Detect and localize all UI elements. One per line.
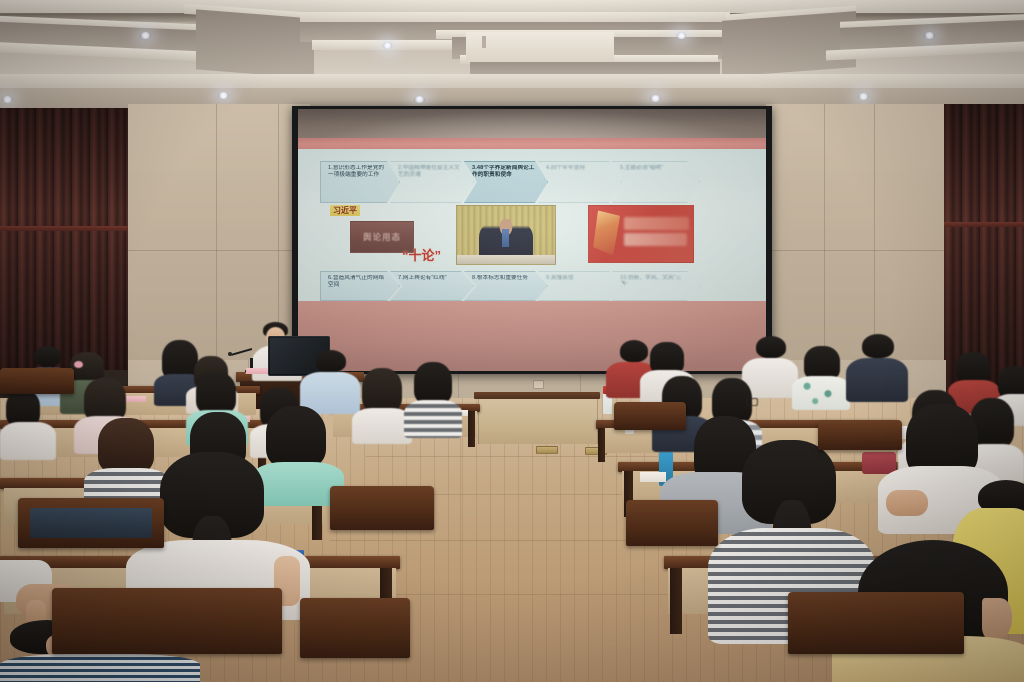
chair [818,420,902,460]
ceiling-downlight [218,92,229,99]
audience-member [792,346,850,404]
ceiling-downlight [414,96,425,103]
chair [330,486,434,542]
ceiling-downlight [676,32,687,39]
audience-member [300,350,360,412]
chair [614,402,686,438]
ceiling-downlight [858,93,869,100]
audience-member [404,362,462,436]
projection-screen: 1.意识形态工作是党的一项极端重要的工作 2.中国精神是社会主义文艺的灵魂 3.… [298,109,766,371]
audience-member [352,368,412,440]
ceiling-downlight [650,95,661,102]
brass-floor-outlet [536,446,558,454]
podium-front-panel [478,398,598,444]
chair [626,500,718,558]
ceiling-downlight [140,32,151,39]
ceiling-downlight [382,42,393,49]
ceiling-downlight [924,32,935,39]
wood-slat-screen-right [944,104,1024,394]
ceiling-downlight [2,96,13,103]
podium-top-rail [474,392,600,399]
conference-hall-photo: 1.意识形态工作是党的一项极端重要的工作 2.中国精神是社会主义文艺的灵魂 3.… [0,0,1024,682]
chair [0,368,74,400]
chair [18,498,164,564]
wood-slat-screen-left [0,108,130,370]
eyeglasses [746,398,758,406]
chair [788,592,964,682]
chair [52,588,282,682]
chair [300,598,410,682]
projection-screen-frame: 1.意识形态工作是党的一项极端重要的工作 2.中国精神是社会主义文艺的灵魂 3.… [292,106,772,374]
coffered-ceiling [0,0,1024,120]
wall-outlet [533,380,544,389]
hair-scrunchie [74,361,83,368]
audience-member [846,334,908,398]
